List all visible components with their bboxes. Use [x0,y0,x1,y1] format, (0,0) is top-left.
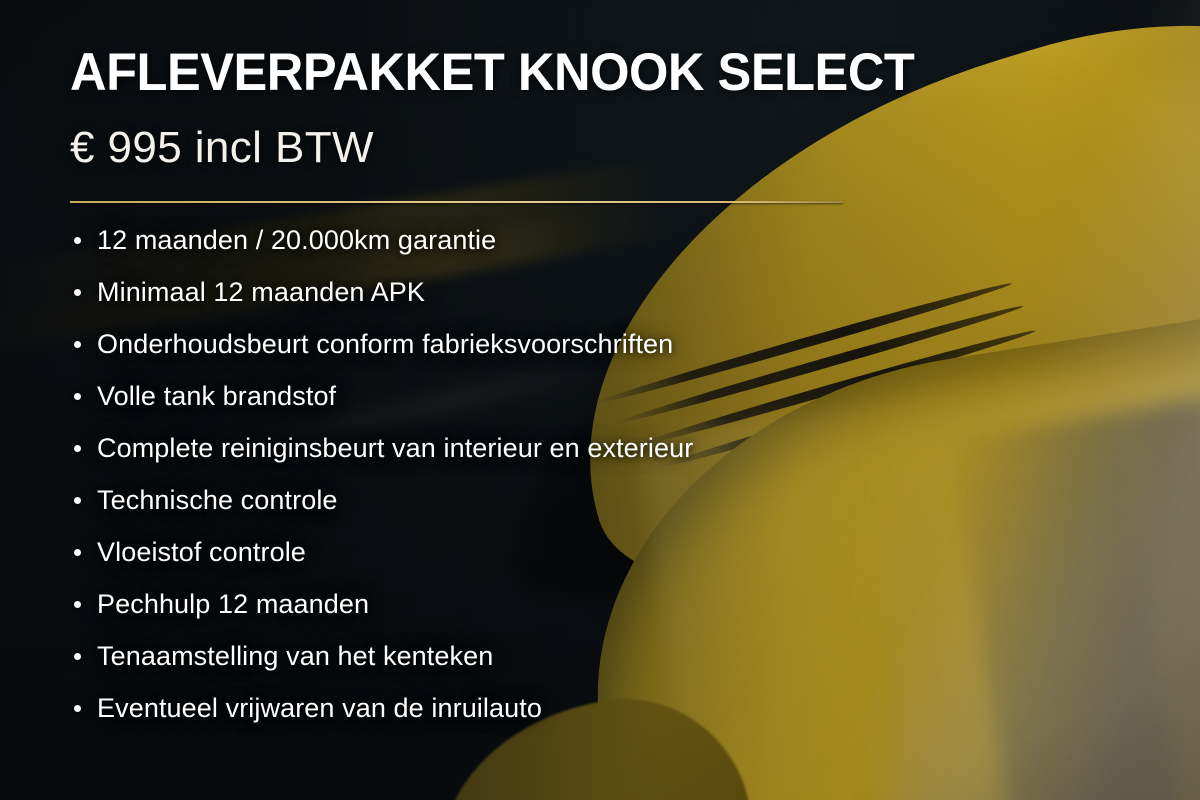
list-item-label: Technische controle [97,485,338,515]
bullet-dot-icon [74,445,81,452]
bullet-dot-icon [74,549,81,556]
bullet-dot-icon [74,393,81,400]
bullet-dot-icon [74,601,81,608]
bullet-dot-icon [74,341,81,348]
list-item-label: Pechhulp 12 maanden [97,589,369,619]
bullet-dot-icon [74,497,81,504]
list-item: Eventueel vrijwaren van de inruilauto [70,682,1070,734]
list-item: Volle tank brandstof [70,370,1070,422]
list-item-label: Minimaal 12 maanden APK [97,277,425,307]
list-item: Tenaamstelling van het kenteken [70,630,1070,682]
list-item-label: Onderhoudsbeurt conform fabrieksvoorschr… [97,329,673,359]
slide-content: AFLEVERPAKKET KNOOK SELECT € 995 incl BT… [0,0,1200,800]
list-item: Onderhoudsbeurt conform fabrieksvoorschr… [70,318,1070,370]
bullet-dot-icon [74,653,81,660]
bullet-dot-icon [74,705,81,712]
gold-divider [70,201,843,203]
list-item: Minimaal 12 maanden APK [70,266,1070,318]
list-item: Technische controle [70,474,1070,526]
price-subtitle: € 995 incl BTW [70,122,374,174]
promo-slide: AFLEVERPAKKET KNOOK SELECT € 995 incl BT… [0,0,1200,800]
list-item-label: Volle tank brandstof [97,381,336,411]
list-item-label: Complete reiniginsbeurt van interieur en… [97,433,693,463]
bullet-dot-icon [74,237,81,244]
list-item: Vloeistof controle [70,526,1070,578]
list-item-label: 12 maanden / 20.000km garantie [97,225,496,255]
list-item: Complete reiniginsbeurt van interieur en… [70,422,1070,474]
list-item: 12 maanden / 20.000km garantie [70,214,1070,266]
feature-list: 12 maanden / 20.000km garantieMinimaal 1… [70,214,1070,734]
list-item-label: Tenaamstelling van het kenteken [97,641,493,671]
bullet-dot-icon [74,289,81,296]
list-item: Pechhulp 12 maanden [70,578,1070,630]
page-title: AFLEVERPAKKET KNOOK SELECT [70,44,914,102]
list-item-label: Eventueel vrijwaren van de inruilauto [97,693,542,723]
list-item-label: Vloeistof controle [97,537,306,567]
